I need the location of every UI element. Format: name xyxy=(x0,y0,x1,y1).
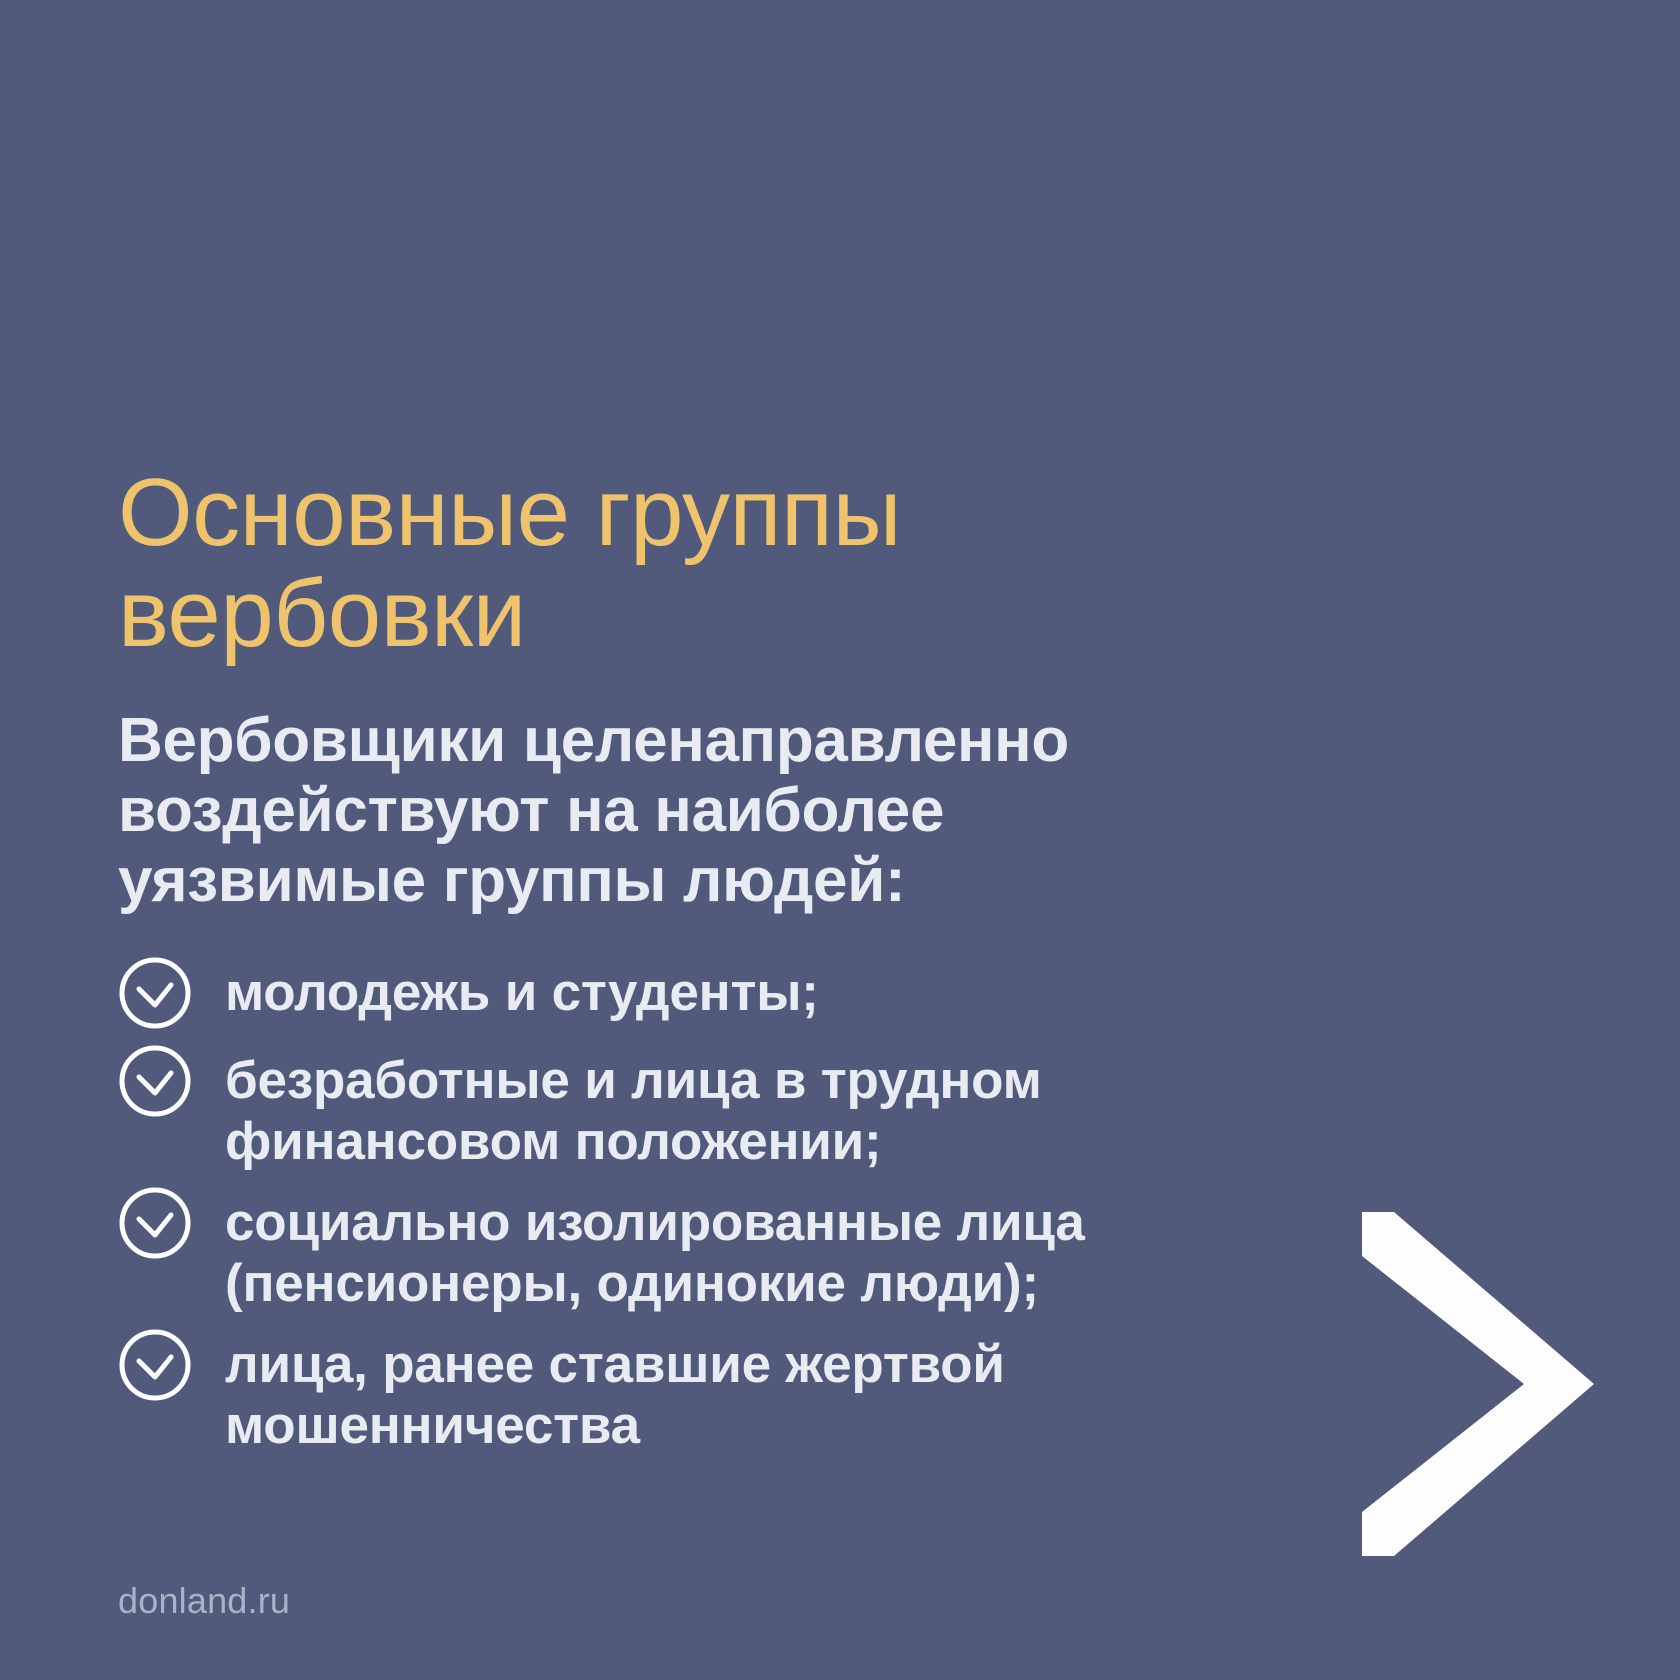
list-item: безработные и лица в трудном финансовом … xyxy=(118,1048,1248,1172)
vulnerable-groups-list: молодежь и студенты; безработные и лица … xyxy=(118,916,1248,1456)
list-item: социально изолированные лица (пенсионеры… xyxy=(118,1190,1248,1314)
list-item: молодежь и студенты; xyxy=(118,960,1248,1030)
slide-root: Основные группы вербовки Вербовщики целе… xyxy=(0,0,1680,1680)
list-item-label: молодежь и студенты; xyxy=(225,960,819,1023)
chevron-right-icon[interactable] xyxy=(1362,1212,1594,1556)
list-item-label: социально изолированные лица (пенсионеры… xyxy=(225,1190,1085,1314)
slide-subtitle: Вербовщики целенаправленно воздействуют … xyxy=(118,664,1248,916)
circle-check-icon xyxy=(118,1044,192,1118)
slide-content: Основные группы вербовки Вербовщики целе… xyxy=(118,462,1248,1456)
circle-check-icon xyxy=(118,956,192,1030)
list-item-label: лица, ранее ставшие жертвой мошенничеств… xyxy=(225,1332,1005,1456)
circle-check-icon xyxy=(118,1186,192,1260)
list-item: лица, ранее ставшие жертвой мошенничеств… xyxy=(118,1332,1248,1456)
page-title: Основные группы вербовки xyxy=(118,462,1248,664)
circle-check-icon xyxy=(118,1328,192,1402)
site-watermark: donland.ru xyxy=(118,1580,290,1622)
list-item-label: безработные и лица в трудном финансовом … xyxy=(225,1048,1042,1172)
